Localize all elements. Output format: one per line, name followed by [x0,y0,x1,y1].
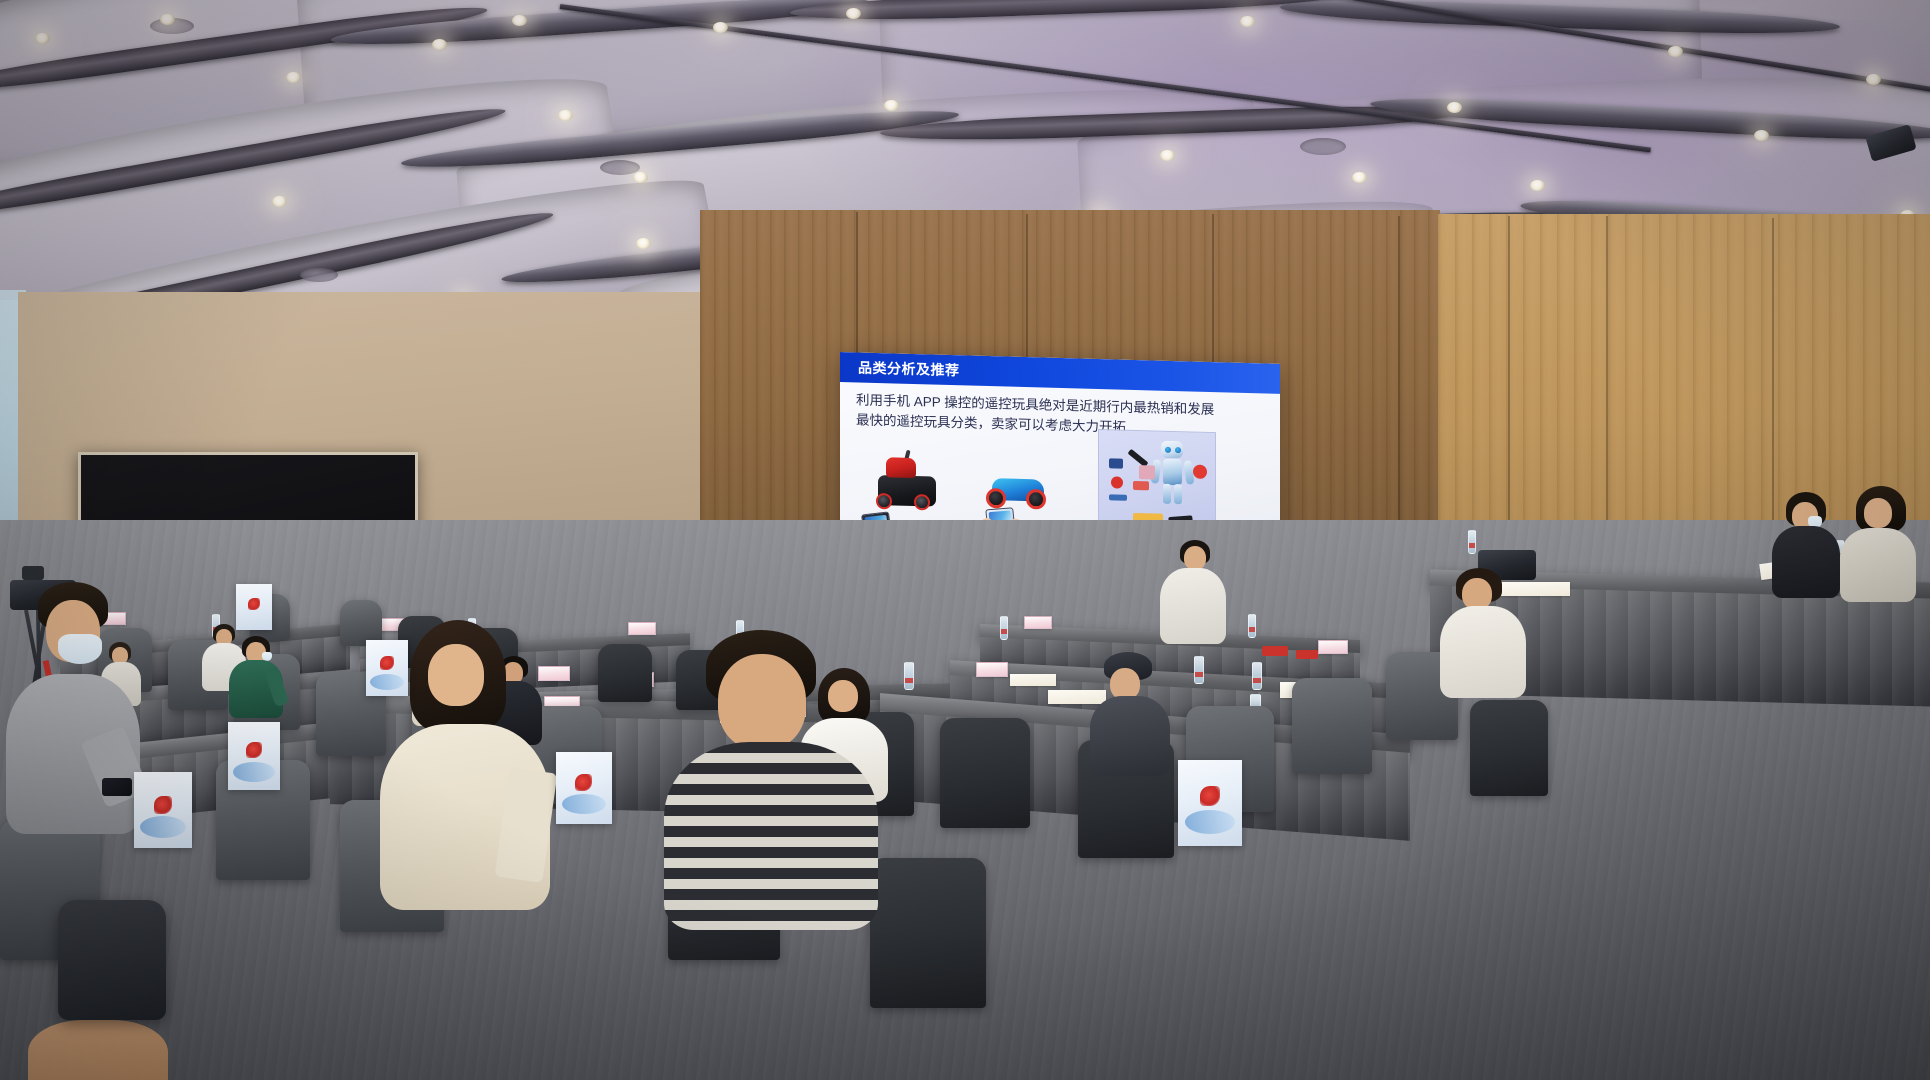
ceiling-spotlight [286,72,301,83]
attendee-cap-wearer [1090,652,1174,778]
ceiling-spotlight [1754,130,1769,141]
staff-right-table-b [1840,486,1920,602]
water-bottle [1248,614,1256,638]
ceiling-spotlight [1160,150,1175,161]
ceiling-spotlight [1866,74,1881,85]
table-document [1010,674,1056,686]
attendee-right-white [1440,568,1530,698]
table-name-card [1318,640,1348,654]
staff-right-table-a [1772,492,1844,602]
ceiling-spotlight [633,172,648,183]
event-tote-bag [1178,760,1242,846]
event-tote-bag [366,640,408,696]
table-name-card [976,662,1008,677]
event-tote-bag [134,772,192,848]
camcorder-viewfinder [22,566,44,580]
attendee-striped-shirt [664,630,884,930]
rc-tank-toy: 红色遥控坦克玩具 [864,449,954,517]
conference-hall-photo: 品类分析及推荐 利用手机 APP 操控的遥控玩具绝对是近期行内最热销和发展最快的… [0,0,1930,1080]
chair-covered [1470,700,1548,796]
water-bottle [1252,662,1262,690]
water-bottle [1000,616,1008,640]
chair-covered [870,858,986,1008]
attendee-green-shirt [228,636,286,720]
ceiling-spotlight [1668,46,1683,57]
event-tote-bag [236,584,272,630]
ceiling-spotlight [558,110,573,121]
water-bottle [1194,656,1204,684]
ceiling-spotlight [160,14,175,25]
smartphone [102,778,132,796]
table-name-card [1024,616,1052,629]
ceiling-spotlight [884,100,899,111]
slide-title: 品类分析及推荐 [858,357,960,380]
ceiling-spotlight [636,238,651,249]
attendee-light-shirt-right [1160,540,1230,650]
red-table-item [1262,646,1288,656]
ceiling-spotlight [1352,172,1367,183]
ceiling-spotlight [1240,16,1255,27]
rc-stunt-car-toy: 蓝色遥控特技车玩具 [982,456,1062,516]
backpack [58,900,166,1020]
ceiling-spotlight [35,33,50,44]
table-name-card [628,622,656,635]
face-mask [58,634,102,664]
red-table-item [1296,650,1318,659]
water-bottle [1468,530,1476,554]
chair-covered [940,718,1030,828]
water-bottle [904,662,914,690]
event-tote-bag [556,752,612,824]
ceiling-spotlight [512,15,527,26]
ceiling-spotlight [1447,102,1462,113]
ceiling-spotlight [1530,180,1545,191]
chair-covered [598,644,652,702]
ceiling-spotlight [713,22,728,33]
ceiling-spotlight [432,39,447,50]
chair-covered [1292,678,1372,774]
ceiling-spotlight [846,8,861,19]
ceiling-spotlight [272,196,287,207]
event-tote-bag [228,722,280,790]
